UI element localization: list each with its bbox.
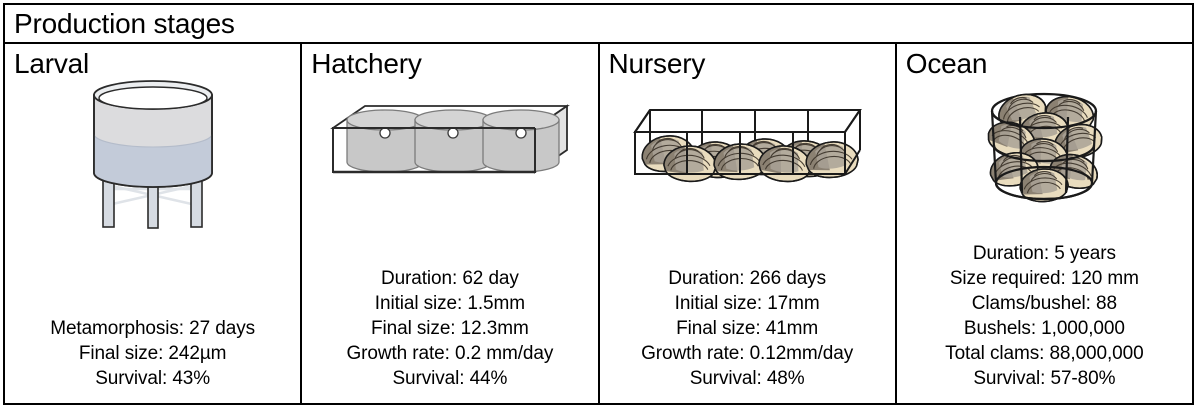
larval-tank-illustration xyxy=(5,72,300,237)
stat-line: Survival: 48% xyxy=(600,366,895,391)
stage-stats-hatchery: Duration: 62 day Initial size: 1.5mm Fin… xyxy=(302,266,597,391)
stage-columns: Larval xyxy=(5,44,1192,403)
production-stages-figure: Production stages Larval xyxy=(3,3,1194,405)
stat-line: Growth rate: 0.2 mm/day xyxy=(302,341,597,366)
nursery-tray-icon xyxy=(620,102,875,207)
cylinder-port-icon xyxy=(448,128,458,138)
cylinder xyxy=(415,110,491,172)
stat-line: Duration: 5 years xyxy=(897,241,1192,266)
clam-group xyxy=(640,133,859,183)
stat-line: Initial size: 1.5mm xyxy=(302,291,597,316)
stat-line: Total clams: 88,000,000 xyxy=(897,341,1192,366)
stat-line: Survival: 57-80% xyxy=(897,366,1192,391)
stage-panel-hatchery: Hatchery xyxy=(302,44,599,403)
figure-title: Production stages xyxy=(14,7,235,40)
hatchery-tank-icon xyxy=(325,100,575,210)
stage-stats-larval: Metamorphosis: 27 days Final size: 242µm… xyxy=(5,316,300,391)
stat-line: Metamorphosis: 27 days xyxy=(5,316,300,341)
stat-line: Final size: 242µm xyxy=(5,341,300,366)
stat-line: Clams/bushel: 88 xyxy=(897,291,1192,316)
stat-line: Duration: 266 days xyxy=(600,266,895,291)
stat-line: Initial size: 17mm xyxy=(600,291,895,316)
stage-panel-ocean: Ocean xyxy=(897,44,1192,403)
stat-line: Final size: 41mm xyxy=(600,316,895,341)
cylinder xyxy=(347,110,423,172)
stat-line: Growth rate: 0.12mm/day xyxy=(600,341,895,366)
stat-line: Bushels: 1,000,000 xyxy=(897,316,1192,341)
larval-tank-icon xyxy=(78,77,228,232)
ocean-bushel-illustration xyxy=(897,72,1192,237)
nursery-tray-illustration xyxy=(600,72,895,237)
stage-stats-nursery: Duration: 266 days Initial size: 17mm Fi… xyxy=(600,266,895,391)
cylinder-port-icon xyxy=(380,128,390,138)
stat-line: Survival: 44% xyxy=(302,366,597,391)
clam-pile xyxy=(984,89,1105,203)
stage-stats-ocean: Duration: 5 years Size required: 120 mm … xyxy=(897,241,1192,391)
stat-line: Survival: 43% xyxy=(5,366,300,391)
stage-panel-nursery: Nursery xyxy=(600,44,897,403)
stat-line: Final size: 12.3mm xyxy=(302,316,597,341)
stat-line: Duration: 62 day xyxy=(302,266,597,291)
stage-panel-larval: Larval xyxy=(5,44,302,403)
figure-header: Production stages xyxy=(5,5,1192,44)
cylinder xyxy=(483,110,559,172)
cylinder-port-icon xyxy=(516,128,526,138)
ocean-bushel-icon xyxy=(974,87,1114,222)
stat-line: Size required: 120 mm xyxy=(897,266,1192,291)
hatchery-trough-illustration xyxy=(302,72,597,237)
hatchery-cylinders xyxy=(347,110,559,172)
tank-body xyxy=(94,81,212,187)
